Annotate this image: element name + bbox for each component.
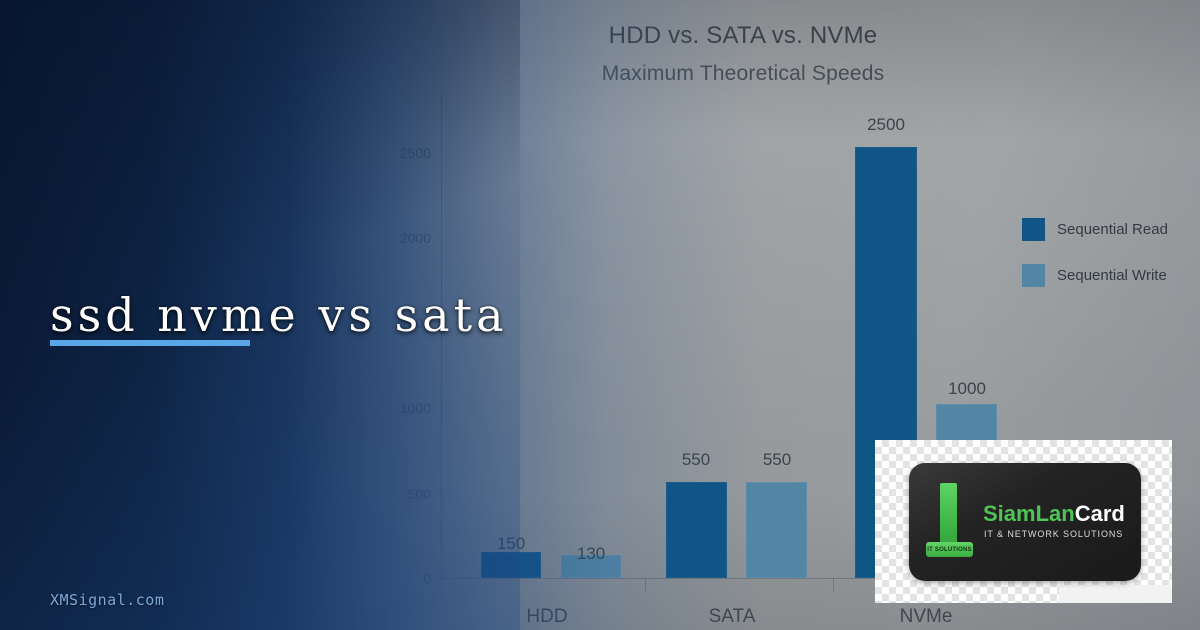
- bar-label-nvme-write: 1000: [912, 379, 1022, 399]
- legend-item-sequential-write[interactable]: Sequential Write: [1022, 264, 1200, 287]
- logo-tagline: IT & NETWORK SOLUTIONS: [984, 529, 1123, 539]
- page-title: ssd nvme vs sata: [50, 288, 508, 342]
- screenshot-canvas: HDD vs. SATA vs. NVMe Maximum Theoretica…: [0, 0, 1200, 630]
- logo-panel-strip: [1059, 585, 1172, 603]
- siamlancard-logo: IT SOLUTIONS SiamLanCard IT & NETWORK SO…: [909, 463, 1141, 581]
- chart-legend: Sequential Read Sequential Write: [1022, 218, 1200, 310]
- logo-wordmark-white: Card: [1075, 501, 1125, 526]
- legend-label: Sequential Write: [1057, 267, 1167, 284]
- site-watermark: XMSignal.com: [50, 591, 164, 609]
- bar-label-nvme-read: 2500: [831, 115, 941, 135]
- logo-badge: IT SOLUTIONS: [926, 542, 973, 557]
- legend-item-sequential-read[interactable]: Sequential Read: [1022, 218, 1200, 241]
- legend-label: Sequential Read: [1057, 221, 1168, 238]
- title-underline-accent: [50, 340, 250, 346]
- logo-wordmark: SiamLanCard: [983, 501, 1125, 527]
- logo-wordmark-green: SiamLan: [983, 501, 1075, 526]
- x-label-nvme: NVMe: [851, 606, 1001, 628]
- legend-swatch-icon: [1022, 264, 1045, 287]
- legend-swatch-icon: [1022, 218, 1045, 241]
